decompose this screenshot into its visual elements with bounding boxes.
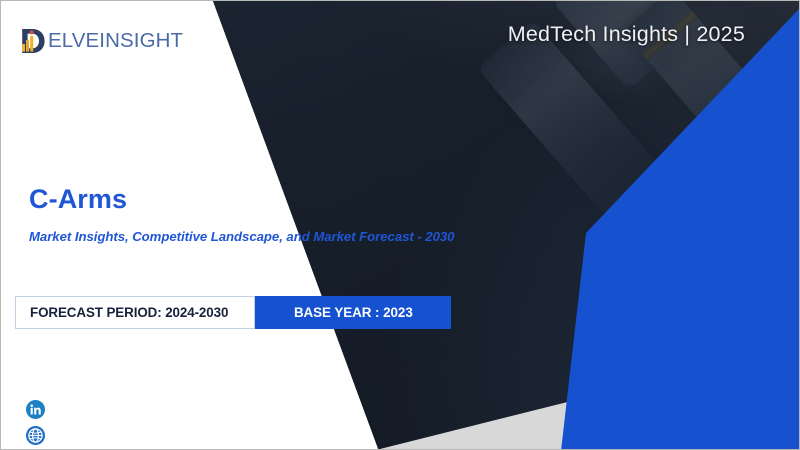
globe-icon[interactable]	[26, 426, 45, 445]
report-cover-slide: ELVEINSIGHT MedTech Insights | 2025 C-Ar…	[0, 0, 800, 450]
base-year-label: BASE YEAR : 2023	[255, 296, 451, 329]
social-links	[26, 400, 45, 445]
forecast-band: FORECAST PERIOD: 2024-2030 BASE YEAR : 2…	[15, 296, 451, 329]
delveinsight-bar-chart-d-logo-icon	[19, 26, 49, 56]
header-series-label: MedTech Insights | 2025	[508, 22, 745, 47]
brand-logo[interactable]: ELVEINSIGHT	[19, 26, 183, 56]
page-title: C-Arms	[29, 184, 127, 215]
forecast-period-label: FORECAST PERIOD: 2024-2030	[15, 296, 255, 329]
brand-logo-text-rest: ELVEINSIGHT	[48, 29, 183, 52]
brand-logo-text: ELVEINSIGHT	[48, 31, 183, 52]
page-subtitle: Market Insights, Competitive Landscape, …	[29, 229, 454, 244]
linkedin-icon[interactable]	[26, 400, 45, 419]
